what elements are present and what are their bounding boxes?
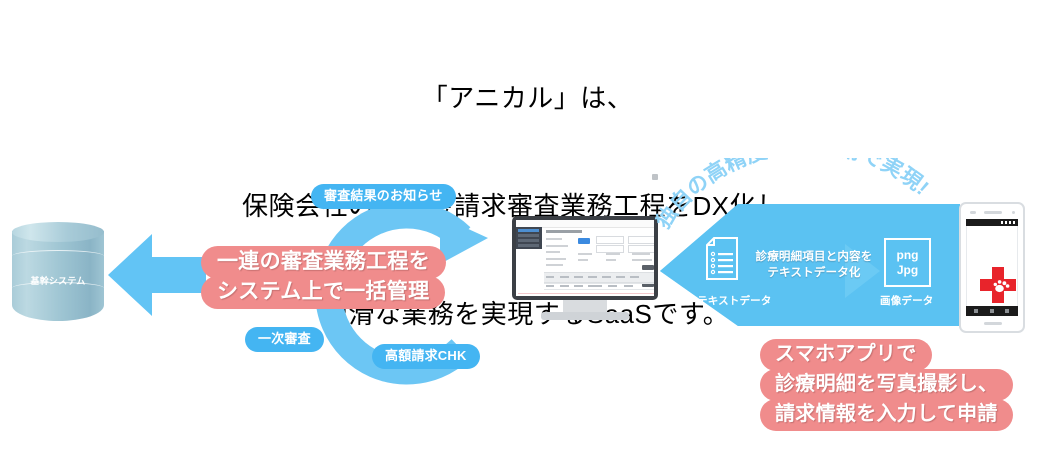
medical-cross-paw-logo-icon <box>977 264 1019 306</box>
form-label <box>546 251 560 253</box>
monitor-screen <box>516 220 654 296</box>
core-system-database-icon: 基幹システム <box>12 222 104 330</box>
screen-page-title <box>546 230 582 233</box>
cycle-label-primary-review[interactable]: 一次審査 <box>245 327 324 352</box>
table-cell <box>546 276 554 278</box>
table-cell <box>624 285 633 287</box>
database-band-upper <box>12 250 104 262</box>
ocr-band-description: 診療明細項目と内容を テキストデータ化 <box>744 249 884 281</box>
form-label <box>546 264 563 266</box>
text-document-icon <box>705 237 739 281</box>
table-cell <box>574 285 583 287</box>
center-callout-line-2: システム上で一括管理 <box>201 276 445 309</box>
phone-home-button[interactable] <box>984 322 1002 325</box>
form-input[interactable] <box>596 236 624 244</box>
screen-status-chip <box>578 238 590 244</box>
table-cell <box>588 276 597 278</box>
format-jpg: Jpg <box>886 263 929 278</box>
database-cylinder-top <box>12 222 104 242</box>
sidebar-row <box>518 239 539 242</box>
screen-sidebar <box>516 227 542 249</box>
form-label <box>606 259 616 261</box>
recents-icon <box>1005 309 1009 313</box>
text-data-label: テキストデータ <box>697 293 772 308</box>
ocr-desc-line-1: 診療明細項目と内容を <box>756 251 873 263</box>
table-cell <box>574 276 583 278</box>
table-cell <box>608 285 617 287</box>
ocr-desc-line-2: テキストデータ化 <box>767 267 860 279</box>
format-png: png <box>886 248 929 263</box>
form-input[interactable] <box>596 245 624 253</box>
phone-nav-bar <box>966 306 1018 316</box>
form-label <box>632 253 650 255</box>
table-cell <box>560 276 569 278</box>
phone-speaker-icon <box>984 211 1002 214</box>
table-cell <box>588 285 602 287</box>
table-cell <box>602 276 611 278</box>
sidebar-row <box>518 234 539 237</box>
headline-line-1: 「アニカル」は、 <box>0 80 1051 116</box>
form-label <box>632 259 652 261</box>
sidebar-row <box>518 244 539 247</box>
cycle-label-review-result-notice[interactable]: 審査結果のお知らせ <box>311 184 456 209</box>
form-label <box>546 245 568 247</box>
table-row-divider <box>544 283 654 284</box>
table-cell <box>546 285 554 287</box>
phone-screen <box>966 226 1018 306</box>
form-label <box>546 238 562 240</box>
signal-icon <box>1001 221 1015 224</box>
form-label <box>606 253 620 255</box>
infographic-canvas: 「アニカル」は、 保険会社の保険金請求審査業務工程をDX化し、 円滑な業務を実現… <box>0 0 1051 457</box>
center-callout-line-1: 一連の審査業務工程を <box>201 246 446 279</box>
table-cell <box>630 276 639 278</box>
mobile-callout-line-3: 請求情報を入力して申請 <box>760 399 1013 431</box>
form-label <box>578 259 588 261</box>
smartphone-icon <box>959 202 1025 333</box>
table-cell <box>560 285 569 287</box>
screen-action-button[interactable] <box>642 265 654 270</box>
phone-status-bar <box>966 219 1018 226</box>
home-icon <box>990 309 994 313</box>
form-input[interactable] <box>628 236 654 244</box>
desktop-monitor-icon <box>505 216 665 326</box>
form-label <box>546 258 566 260</box>
sidebar-row-active <box>518 229 539 232</box>
monitor-stand-base <box>541 312 629 320</box>
form-input[interactable] <box>628 245 654 253</box>
monitor-bezel <box>512 216 658 300</box>
phone-sensor-icon <box>1012 211 1015 214</box>
form-label <box>578 253 592 255</box>
image-data-label: 画像データ <box>880 293 934 308</box>
table-footer-line <box>518 293 654 294</box>
image-format-box: png Jpg <box>884 238 931 287</box>
phone-camera-icon <box>970 211 976 214</box>
left-arrow-icon <box>108 228 206 322</box>
core-system-label: 基幹システム <box>12 274 104 287</box>
table-cell <box>616 276 625 278</box>
back-icon <box>974 309 978 313</box>
cycle-label-high-claim-check[interactable]: 高額請求CHK <box>372 344 480 369</box>
mobile-callout-line-2: 診療明細を写真撮影し、 <box>760 369 1013 401</box>
mobile-callout-line-1: スマホアプリで <box>760 339 932 371</box>
table-row-divider <box>544 289 654 290</box>
